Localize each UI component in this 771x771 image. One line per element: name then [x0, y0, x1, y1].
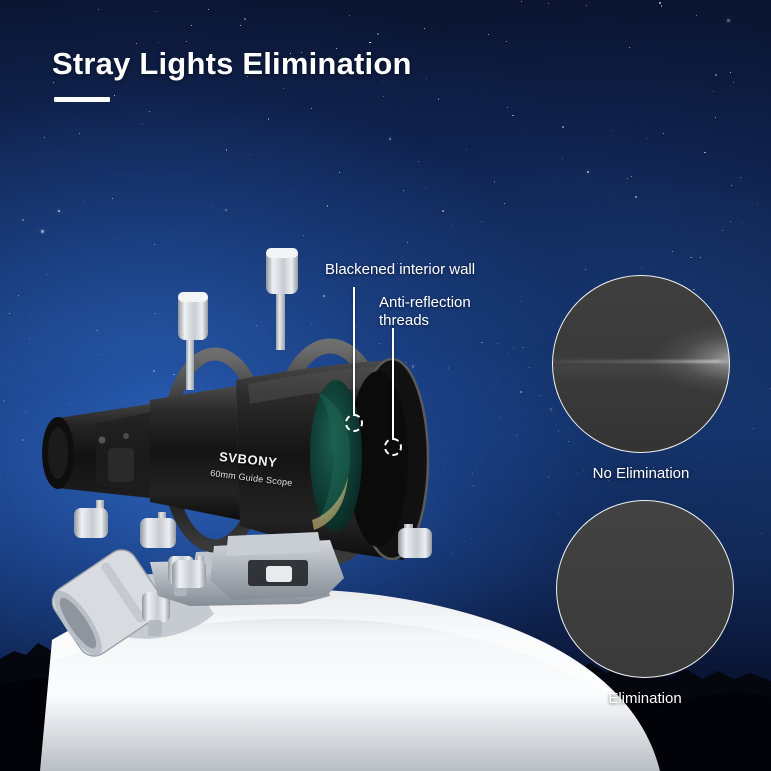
callout-blackened-interior-wall: Blackened interior wall	[325, 261, 475, 279]
leader-line-blackened-wall	[353, 287, 355, 414]
disc-image-elimination	[556, 500, 734, 678]
disc-caption-elimination: Elimination	[608, 690, 681, 707]
leader-line-anti-reflection-threads	[392, 328, 394, 438]
disc-image-no-elimination	[552, 275, 730, 453]
disc-caption-no-elimination: No Elimination	[593, 465, 690, 482]
comparison-elimination: Elimination	[556, 500, 734, 678]
marker-anti-reflection-threads	[384, 438, 402, 456]
page-title: Stray Lights Elimination	[52, 46, 412, 82]
product-feature-graphic: Stray Lights Elimination	[0, 0, 771, 771]
callout-anti-reflection-threads: Anti-reflection threads	[379, 294, 471, 331]
title-underline	[54, 97, 110, 102]
comparison-no-elimination: No Elimination	[552, 275, 730, 453]
marker-blackened-wall	[345, 414, 363, 432]
